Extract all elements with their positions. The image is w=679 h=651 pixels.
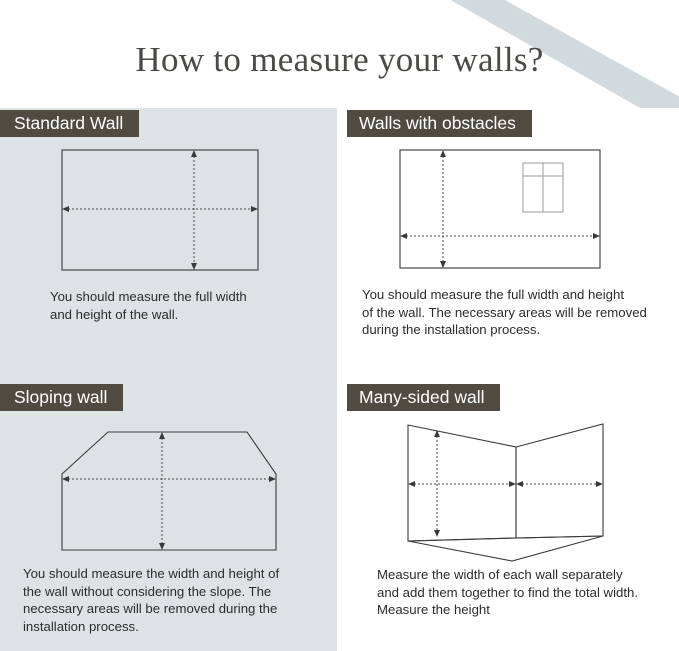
arrow-right-end-icon bbox=[596, 481, 603, 487]
arrow-down-icon bbox=[159, 543, 165, 550]
panel-obstacle-wall: Walls with obstacles bbox=[337, 110, 679, 382]
arrow-left-icon bbox=[408, 481, 415, 487]
wall-outline-rect bbox=[62, 150, 258, 270]
panel-standard-wall: Standard Wall You should measure the ful… bbox=[0, 110, 337, 382]
left-wall-plane bbox=[408, 425, 516, 541]
standard-wall-diagram bbox=[40, 146, 280, 286]
arrow-up-icon bbox=[191, 150, 197, 157]
arrow-left-icon bbox=[400, 233, 407, 239]
window-obstacle-icon bbox=[523, 163, 563, 212]
page-title: How to measure your walls? bbox=[0, 40, 679, 80]
obstacle-wall-diagram bbox=[382, 146, 632, 286]
panel-badge-many-sided-wall: Many-sided wall bbox=[347, 384, 500, 411]
panel-caption-sloping-wall: You should measure the width and height … bbox=[23, 565, 323, 635]
panel-many-sided-wall: Many-sided wall bbox=[337, 384, 679, 651]
wall-outline-polygon bbox=[62, 432, 276, 550]
panel-badge-sloping-wall: Sloping wall bbox=[0, 384, 123, 411]
arrow-right-icon bbox=[509, 481, 516, 487]
many-sided-wall-diagram bbox=[397, 418, 617, 563]
arrow-left-icon bbox=[62, 476, 69, 482]
floor-plane bbox=[408, 536, 603, 561]
panel-badge-standard-wall: Standard Wall bbox=[0, 110, 139, 137]
panel-caption-standard-wall: You should measure the full width and he… bbox=[50, 288, 310, 323]
arrow-down-icon bbox=[191, 263, 197, 270]
arrow-down-icon bbox=[434, 530, 440, 537]
panel-caption-obstacle-wall: You should measure the full width and he… bbox=[362, 286, 672, 339]
sloping-wall-diagram bbox=[40, 426, 290, 556]
wall-outline-rect bbox=[400, 150, 600, 268]
arrow-right-icon bbox=[593, 233, 600, 239]
arrow-right-icon bbox=[251, 206, 258, 212]
panel-sloping-wall: Sloping wall You should measure the widt… bbox=[0, 384, 337, 651]
arrow-left-icon bbox=[62, 206, 69, 212]
arrow-right-start-icon bbox=[516, 481, 523, 487]
panel-caption-many-sided-wall: Measure the width of each wall separatel… bbox=[377, 566, 679, 619]
arrow-down-icon bbox=[440, 261, 446, 268]
arrow-right-icon bbox=[269, 476, 276, 482]
infographic-page: How to measure your walls? Standard Wall… bbox=[0, 0, 679, 651]
arrow-up-icon bbox=[440, 150, 446, 157]
right-wall-plane bbox=[516, 424, 603, 538]
arrow-up-icon bbox=[159, 432, 165, 439]
panel-badge-obstacle-wall: Walls with obstacles bbox=[347, 110, 532, 137]
